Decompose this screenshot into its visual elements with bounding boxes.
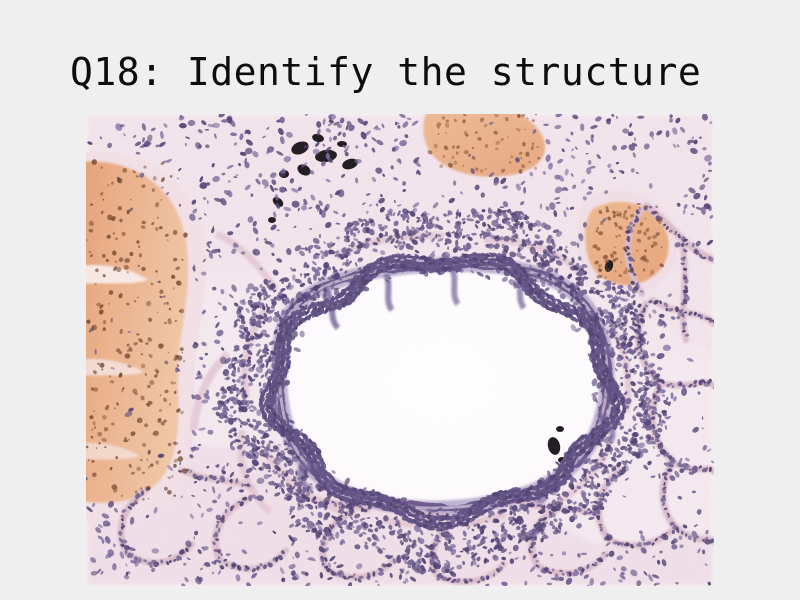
brightness-overlay (86, 114, 714, 586)
micrograph-image (86, 114, 714, 586)
histology-micrograph (86, 114, 714, 586)
slide-canvas: Q18: Identify the structure (0, 0, 800, 600)
page-title: Q18: Identify the structure (70, 46, 750, 98)
